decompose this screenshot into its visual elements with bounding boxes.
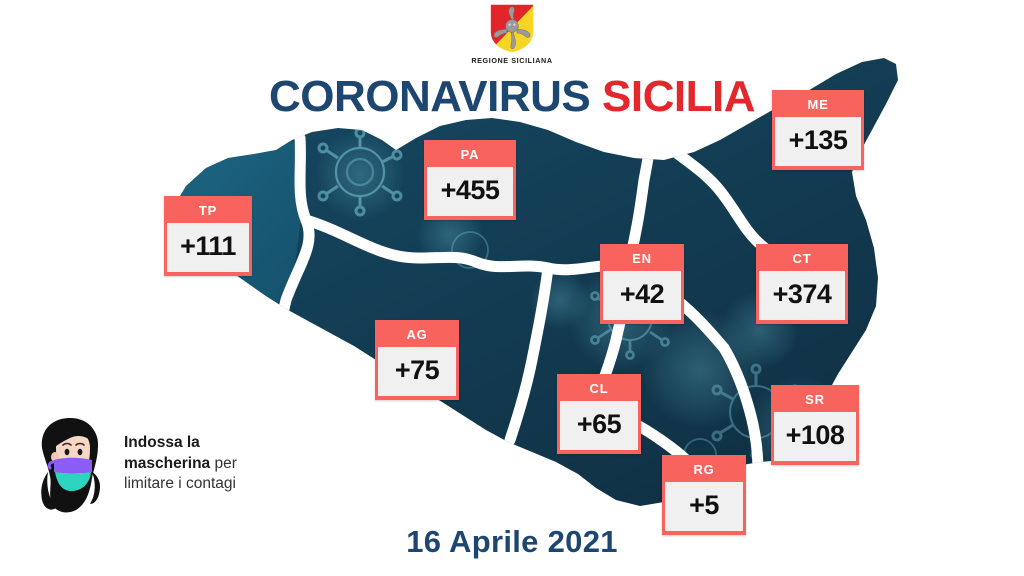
title-word-sicilia: SICILIA <box>602 72 755 121</box>
province-value-ag: +75 <box>378 347 456 396</box>
province-badge-me[interactable]: ME +135 <box>772 90 864 170</box>
province-value-tp: +111 <box>167 223 249 272</box>
province-badge-pa[interactable]: PA +455 <box>424 140 516 220</box>
mask-notice-text: Indossa la mascherina per limitare i con… <box>124 433 237 496</box>
title-word-coronavirus: CORONAVIRUS <box>269 72 590 121</box>
page-title: CORONAVIRUS SICILIA <box>0 72 1024 122</box>
province-value-me: +135 <box>775 117 861 166</box>
woman-wearing-mask-icon <box>22 412 114 516</box>
province-badge-ct[interactable]: CT +374 <box>756 244 848 324</box>
province-value-cl: +65 <box>560 401 638 450</box>
province-badge-sr[interactable]: SR +108 <box>771 385 859 465</box>
province-value-en: +42 <box>603 271 681 320</box>
province-code-sr: SR <box>774 388 856 412</box>
province-code-en: EN <box>603 247 681 271</box>
date-label: 16 Aprile 2021 <box>0 524 1024 560</box>
mask-notice: Indossa la mascherina per limitare i con… <box>22 408 312 520</box>
province-code-cl: CL <box>560 377 638 401</box>
province-badge-cl[interactable]: CL +65 <box>557 374 641 454</box>
province-code-pa: PA <box>427 143 513 167</box>
province-badge-rg[interactable]: RG +5 <box>662 455 746 535</box>
province-badge-en[interactable]: EN +42 <box>600 244 684 324</box>
province-code-tp: TP <box>167 199 249 223</box>
province-code-rg: RG <box>665 458 743 482</box>
province-value-pa: +455 <box>427 167 513 216</box>
province-value-sr: +108 <box>774 412 856 461</box>
province-code-ag: AG <box>378 323 456 347</box>
province-badge-ag[interactable]: AG +75 <box>375 320 459 400</box>
infographic-page: REGIONE SICILIANA CORONAVIRUS SICILIA TP… <box>0 0 1024 576</box>
mask-line-1: Indossa la <box>124 434 200 451</box>
mask-line-3: limitare i contagi <box>124 475 236 492</box>
province-badge-tp[interactable]: TP +111 <box>164 196 252 276</box>
province-code-me: ME <box>775 93 861 117</box>
mask-line-2-bold: mascherina <box>124 455 210 472</box>
province-value-ct: +374 <box>759 271 845 320</box>
province-code-ct: CT <box>759 247 845 271</box>
mask-line-2-normal: per <box>210 455 237 472</box>
